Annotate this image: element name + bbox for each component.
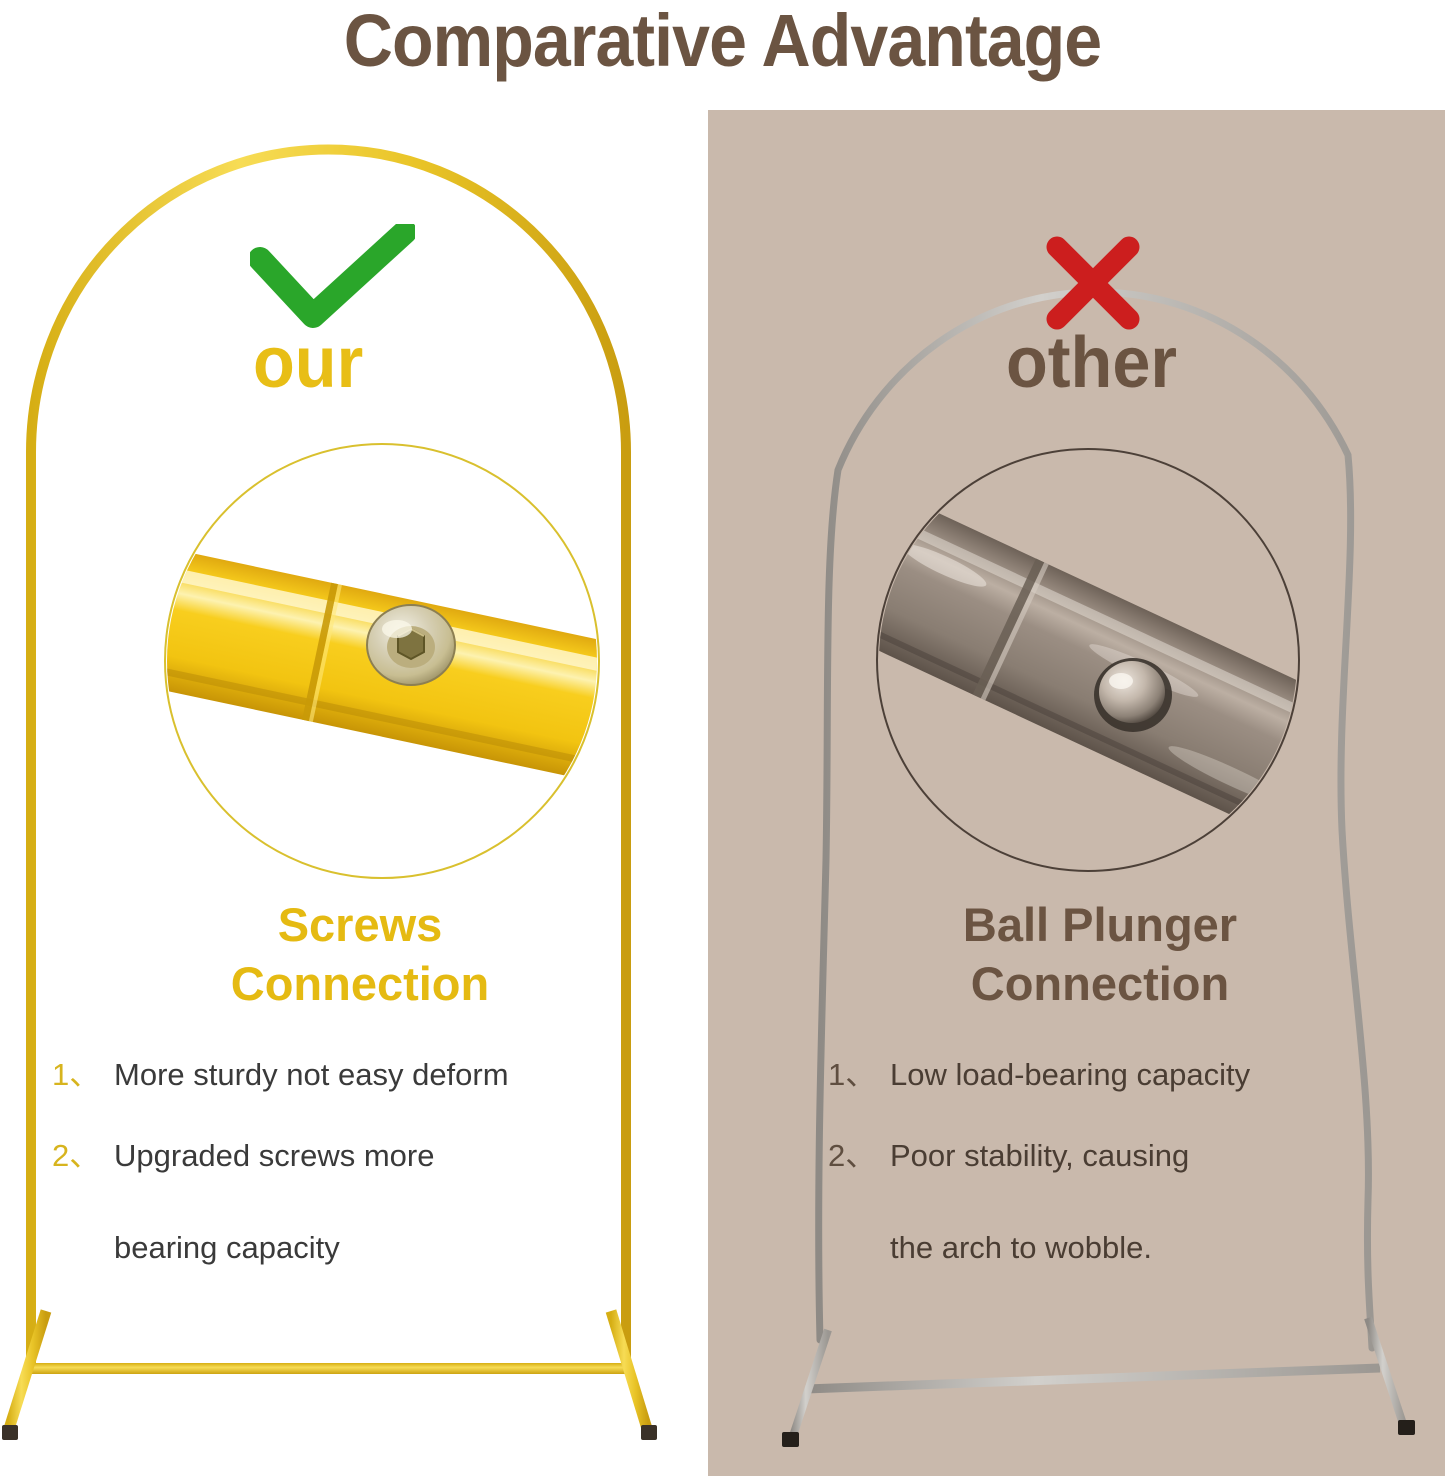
bullet-text: Poor stability, causing — [890, 1136, 1428, 1177]
bullet-text: More sturdy not easy deform — [114, 1055, 692, 1096]
bullet-text: Upgraded screws more — [114, 1136, 692, 1177]
cross-icon — [1043, 233, 1143, 333]
bullet-list-right: 1、 Low load-bearing capacity 2、 Poor sta… — [828, 1055, 1428, 1319]
yellow-pipe-screw-photo — [164, 443, 600, 879]
list-item: 2、 Poor stability, causing — [828, 1136, 1428, 1177]
bullet-list-left: 1、 More sturdy not easy deform 2、 Upgrad… — [52, 1055, 692, 1319]
list-item: 2、 Upgraded screws more — [52, 1136, 692, 1177]
page-title: Comparative Advantage — [58, 2, 1387, 80]
bullet-number: 2、 — [828, 1136, 890, 1177]
label-our: our — [253, 327, 363, 399]
gray-pipe-ball-plunger-photo — [876, 448, 1300, 872]
bullet-text: Low load-bearing capacity — [890, 1055, 1428, 1096]
list-item: 1、 More sturdy not easy deform — [52, 1055, 692, 1096]
list-item: 1、 Low load-bearing capacity — [828, 1055, 1428, 1096]
list-item-continuation: bearing capacity — [52, 1217, 692, 1279]
heading-ball-plunger-connection: Ball Plunger Connection — [800, 895, 1400, 1013]
label-other: other — [1006, 327, 1177, 399]
heading-screws-connection: Screws Connection — [60, 895, 660, 1013]
comparison-infographic: our other — [0, 0, 1445, 1476]
check-icon — [250, 224, 415, 329]
bullet-number: 1、 — [52, 1055, 114, 1096]
list-item-continuation: the arch to wobble. — [828, 1217, 1428, 1279]
bullet-text: the arch to wobble. — [890, 1217, 1428, 1279]
bullet-number: 2、 — [52, 1136, 114, 1177]
bullet-number: 1、 — [828, 1055, 890, 1096]
bullet-text: bearing capacity — [114, 1217, 692, 1279]
